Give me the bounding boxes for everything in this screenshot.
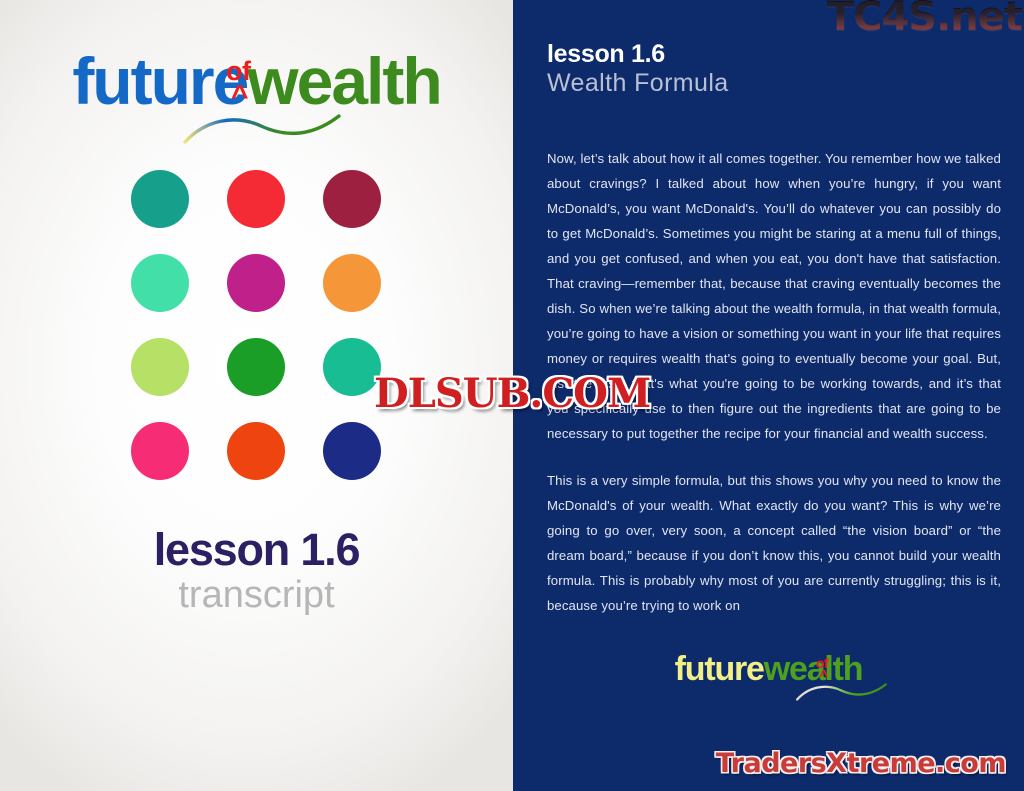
brand-word-future-footer: future [675,650,764,688]
transcript-paragraph: This is a very simple formula, but this … [547,468,1001,618]
brand-word-wealth-footer: wealth [764,650,863,688]
dot-seagreen [323,338,381,396]
watermark-dlsub: DLSUB.COM [374,370,650,417]
dot-navy [323,422,381,480]
dot-lime [131,338,189,396]
dot-orange-red [227,422,285,480]
brand-caret-icon-footer: ^ [819,658,827,696]
brand-word-wealth: wealth [247,44,440,118]
dot-teal [131,170,189,228]
transcript-page: futurewealth of ^ [0,0,1024,791]
dot-red [227,170,285,228]
lesson-header: lesson 1.6 Wealth Formula [547,40,967,98]
cover-lesson-label: lesson 1.6 [0,525,513,575]
brand-caret-icon: ^ [231,62,247,132]
dot-pink [131,422,189,480]
brand-wordmark-footer: futurewealth of ^ [513,650,1024,688]
lesson-number: lesson 1.6 [547,40,967,68]
brand-word-future: future [72,44,247,118]
dot-orange [323,254,381,312]
watermark-tc4s: TC4S.net [827,0,1022,40]
dot-magenta [227,254,285,312]
dot-mint [131,254,189,312]
brand-logo-primary: futurewealth of ^ [0,28,513,128]
watermark-tradersxtreme: TradersXtreme.com [716,748,1006,779]
brand-wordmark: futurewealth of ^ [0,28,513,116]
lesson-title: Wealth Formula [547,68,967,98]
color-dot-grid [131,170,381,480]
cover-document-type: transcript [0,573,513,617]
dot-green [227,338,285,396]
brand-logo-footer: futurewealth of ^ [513,650,1024,710]
cover-title-block: lesson 1.6 transcript [0,525,513,617]
dot-crimson [323,170,381,228]
